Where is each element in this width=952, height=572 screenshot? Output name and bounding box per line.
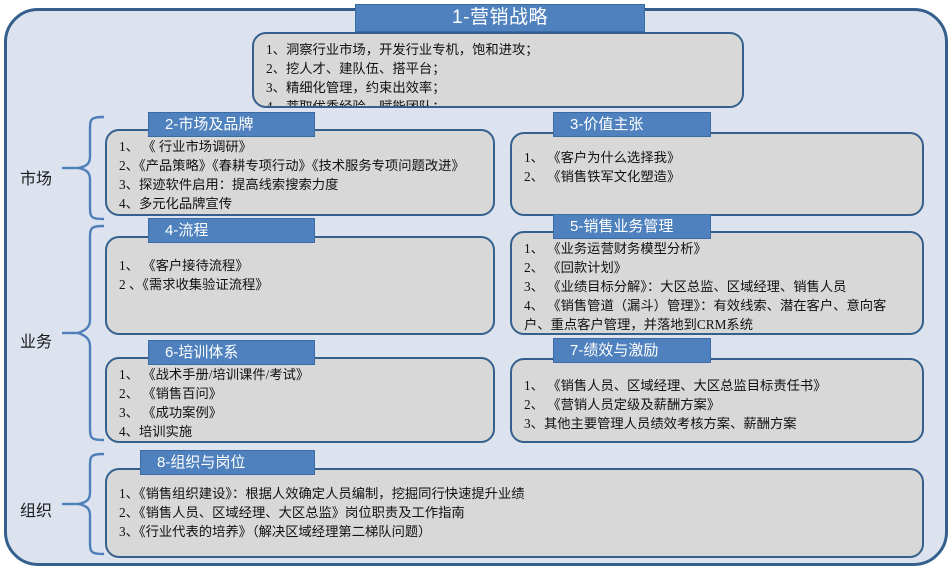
section-header-8[interactable]: 8-组织与岗位 bbox=[140, 450, 315, 475]
section-card-4: 1、 《客户接待流程》 2 、《需求收集验证流程》 bbox=[105, 236, 495, 335]
section-card-7: 1、 《销售人员、区域经理、大区总监目标责任书》 2、 《营销人员定级及薪酬方案… bbox=[510, 358, 924, 443]
intro-card: 1、洞察行业市场，开发行业专机，饱和进攻； 2、挖人才、建队伍、搭平台； 3、精… bbox=[252, 32, 744, 108]
section-header-2[interactable]: 2-市场及品牌 bbox=[148, 112, 315, 137]
section-card-6-lines: 1、 《战术手册/培训课件/考试》 2、 《销售百问》 3、 《成功案例》 4、… bbox=[119, 365, 483, 441]
section-card-3: 1、 《客户为什么选择我》 2、 《销售铁军文化塑造》 bbox=[510, 132, 924, 216]
section-header-7[interactable]: 7-绩效与激励 bbox=[553, 338, 711, 363]
section-header-5[interactable]: 5-销售业务管理 bbox=[553, 214, 711, 239]
section-card-5-lines: 1、 《业务运营财务模型分析》 2、 《回款计划》 3、 《业绩目标分解》：大区… bbox=[524, 239, 912, 334]
section-card-3-lines: 1、 《客户为什么选择我》 2、 《销售铁军文化塑造》 bbox=[524, 148, 912, 186]
section-header-4[interactable]: 4-流程 bbox=[148, 218, 315, 243]
page-title: 1-营销战略 bbox=[355, 4, 645, 32]
section-card-2: 1、 《 行业市场调研》 2、《产品策略》《春耕专项行动》《技术服务专项问题改进… bbox=[105, 129, 495, 216]
group-label-business: 业务 bbox=[20, 328, 52, 352]
section-card-2-lines: 1、 《 行业市场调研》 2、《产品策略》《春耕专项行动》《技术服务专项问题改进… bbox=[119, 137, 483, 216]
section-header-3[interactable]: 3-价值主张 bbox=[553, 112, 711, 137]
section-card-6: 1、 《战术手册/培训课件/考试》 2、 《销售百问》 3、 《成功案例》 4、… bbox=[105, 357, 495, 443]
section-card-8-lines: 1、《销售组织建设》：根据人效确定人员编制，挖掘同行快速提升业绩 2、《销售人员… bbox=[119, 484, 912, 541]
section-header-6[interactable]: 6-培训体系 bbox=[148, 340, 315, 365]
group-label-market: 市场 bbox=[20, 165, 52, 189]
section-card-5: 1、 《业务运营财务模型分析》 2、 《回款计划》 3、 《业绩目标分解》：大区… bbox=[510, 231, 924, 335]
group-label-organization: 组织 bbox=[20, 497, 52, 521]
section-card-4-lines: 1、 《客户接待流程》 2 、《需求收集验证流程》 bbox=[119, 256, 483, 294]
section-card-7-lines: 1、 《销售人员、区域经理、大区总监目标责任书》 2、 《营销人员定级及薪酬方案… bbox=[524, 376, 912, 433]
strategy-map-canvas: 1-营销战略 1、洞察行业市场，开发行业专机，饱和进攻； 2、挖人才、建队伍、搭… bbox=[0, 0, 952, 572]
intro-card-lines: 1、洞察行业市场，开发行业专机，饱和进攻； 2、挖人才、建队伍、搭平台； 3、精… bbox=[266, 40, 732, 108]
section-card-8: 1、《销售组织建设》：根据人效确定人员编制，挖掘同行快速提升业绩 2、《销售人员… bbox=[105, 468, 924, 558]
